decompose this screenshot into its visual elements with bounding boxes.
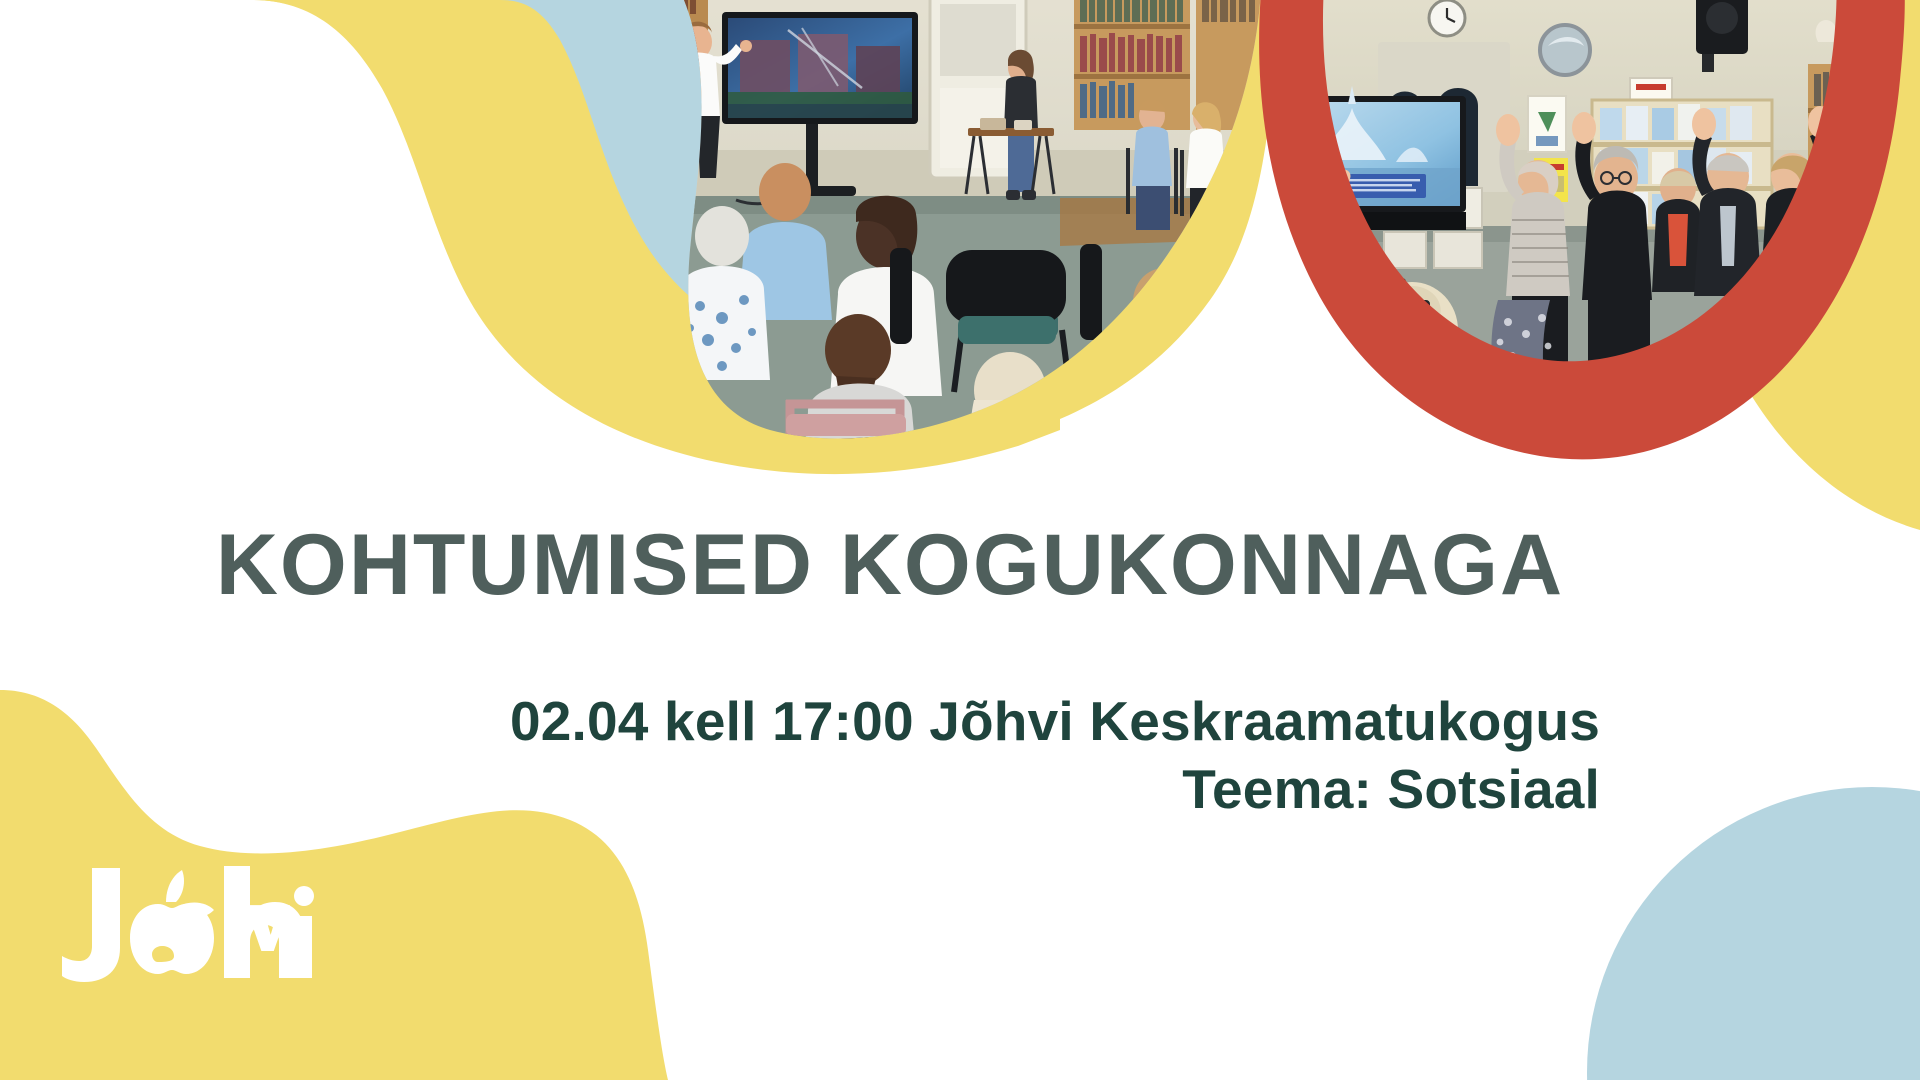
event-topic: Teema: Sotsiaal (0, 756, 1600, 824)
library-presentation-photo (640, 0, 1280, 540)
johvi-logo-tail (244, 858, 316, 983)
logo-letter-j (62, 868, 120, 982)
logo-letter-v (245, 905, 290, 951)
poster-text-block: KOHTUMISED KOGUKONNAGA 02.04 kell 17:00 … (0, 520, 1780, 824)
logo-apple-leaf-icon (130, 870, 214, 974)
event-datetime-venue: 02.04 kell 17:00 Jõhvi Keskraamatukogus (0, 688, 1600, 756)
event-details: 02.04 kell 17:00 Jõhvi Keskraamatukogus … (0, 688, 1780, 823)
event-poster: KOHTUMISED KOGUKONNAGA 02.04 kell 17:00 … (0, 0, 1920, 1080)
page-title: KOHTUMISED KOGUKONNAGA (0, 520, 1780, 610)
logo-letter-i (294, 886, 314, 978)
